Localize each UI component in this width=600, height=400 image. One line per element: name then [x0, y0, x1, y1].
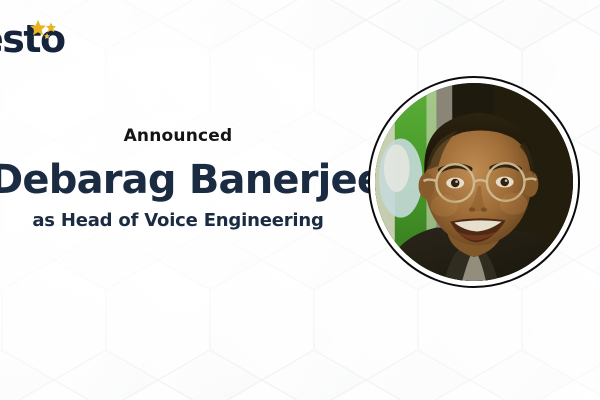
person-role: as Head of Voice Engineering: [0, 211, 356, 231]
star-icon: [30, 20, 46, 35]
portrait-image: [375, 83, 573, 281]
logo-stars-icon: [26, 20, 62, 42]
star-icon: [44, 33, 50, 39]
portrait-illustration: [375, 83, 573, 281]
announcement-banner: esto Announced Debarag Banerjee as Head …: [0, 0, 600, 400]
person-name: Debarag Banerjee: [0, 159, 356, 201]
announcement-text-block: Announced Debarag Banerjee as Head of Vo…: [0, 128, 356, 231]
portrait-avatar: [368, 76, 580, 288]
announced-label: Announced: [0, 128, 356, 145]
star-icon: [46, 23, 56, 33]
brand-logo: esto: [0, 14, 65, 58]
